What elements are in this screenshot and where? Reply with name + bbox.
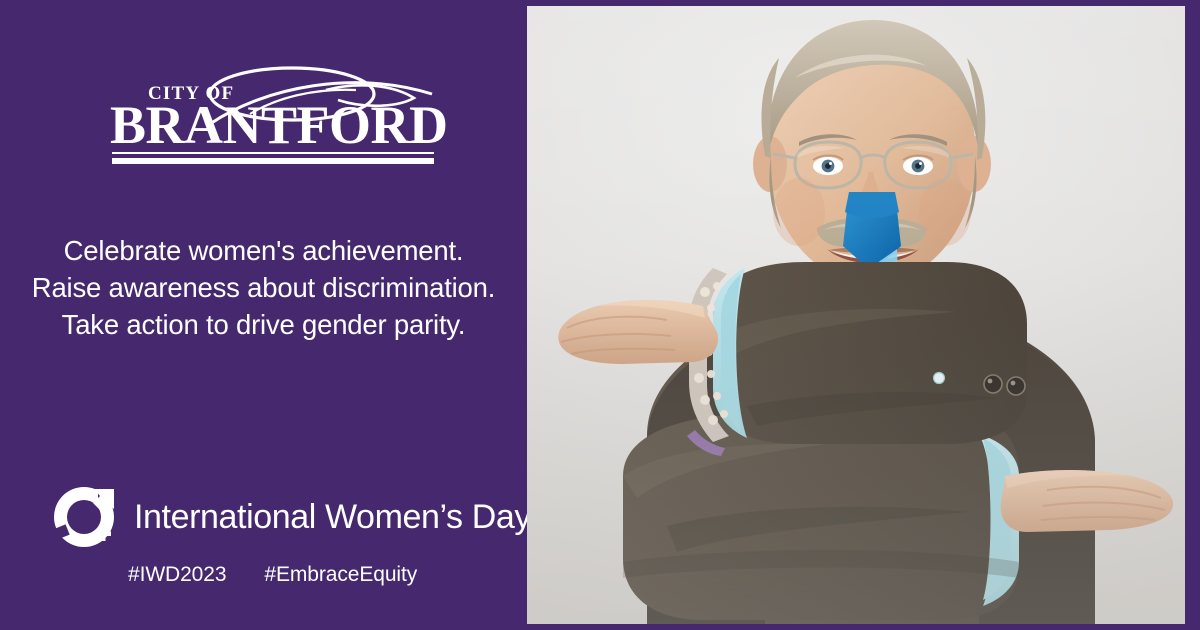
portrait-photo [527,6,1185,624]
iwd-wordmark: International Women’s Day [134,498,531,537]
city-of-brantford-logo: CITY OF BRANTFORD [110,66,440,176]
tagline-line-3: Take action to drive gender parity. [0,306,527,343]
logo-rule-thin [112,152,434,154]
iwd-circle-arrow-female-symbol-icon [50,483,118,551]
photo-vignette [527,6,1185,624]
iwd-logo-row: International Women’s Day [50,483,531,551]
iwd-2023-social-graphic: CITY OF BRANTFORD Celebrate women's achi… [0,0,1200,630]
international-womens-day-lockup: International Women’s Day #IWD2023#Embra… [50,483,531,587]
hashtag-embraceequity: #EmbraceEquity [264,563,417,586]
tagline-line-2: Raise awareness about discrimination. [0,269,527,306]
logo-rule-thick [112,158,434,164]
tagline-line-1: Celebrate women's achievement. [0,232,527,269]
left-panel: CITY OF BRANTFORD Celebrate women's achi… [0,0,527,630]
logo-brantford-text: BRANTFORD [110,98,448,152]
tagline: Celebrate women's achievement. Raise awa… [0,232,527,343]
iwd-hashtags: #IWD2023#EmbraceEquity [128,563,531,587]
hashtag-iwd2023: #IWD2023 [128,563,226,586]
logo-city-of-text: CITY OF [148,84,234,103]
